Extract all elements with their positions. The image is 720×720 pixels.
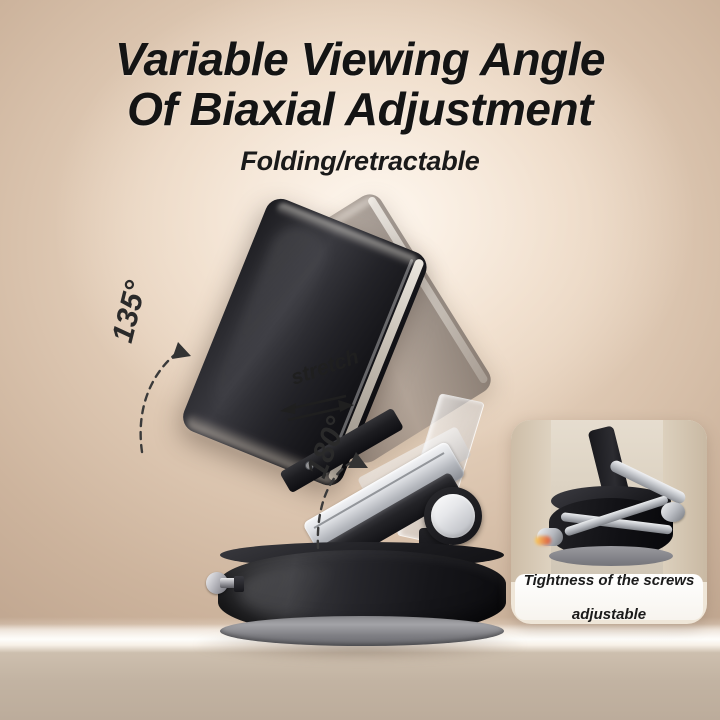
lamp-base-rim — [220, 616, 504, 646]
inset-caption-line-2: adjustable — [524, 606, 695, 623]
inset-wall-left — [511, 420, 551, 582]
inset-caption-line-1: Tightness of the screws — [524, 572, 695, 589]
inset-screw-icon — [661, 502, 685, 522]
inset-photo — [511, 420, 707, 582]
hinge-pivot-disc — [431, 494, 475, 538]
angle-label-135: 135° — [106, 338, 168, 372]
product-promo-image: Variable Viewing Angle Of Biaxial Adjust… — [0, 0, 720, 720]
knob-slot — [234, 576, 244, 592]
base-adjust-knob — [206, 572, 240, 594]
subtitle: Folding/retractable — [0, 146, 720, 177]
lamp-base-gloss — [240, 564, 360, 618]
detail-inset-card: Tightness of the screws adjustable — [511, 420, 707, 624]
lamp-base — [218, 542, 506, 650]
stretch-label: stretch — [288, 368, 358, 392]
inset-knob-highlight — [535, 536, 551, 545]
inset-caption: Tightness of the screws adjustable — [515, 574, 703, 620]
angle-label-180: 180° — [300, 470, 362, 504]
inset-base-rim — [549, 546, 673, 566]
lamp-head-gloss — [205, 217, 336, 430]
headings-block: Variable Viewing Angle Of Biaxial Adjust… — [0, 34, 720, 177]
title-line-2: Of Biaxial Adjustment — [0, 84, 720, 134]
title-line-1: Variable Viewing Angle — [0, 34, 720, 84]
